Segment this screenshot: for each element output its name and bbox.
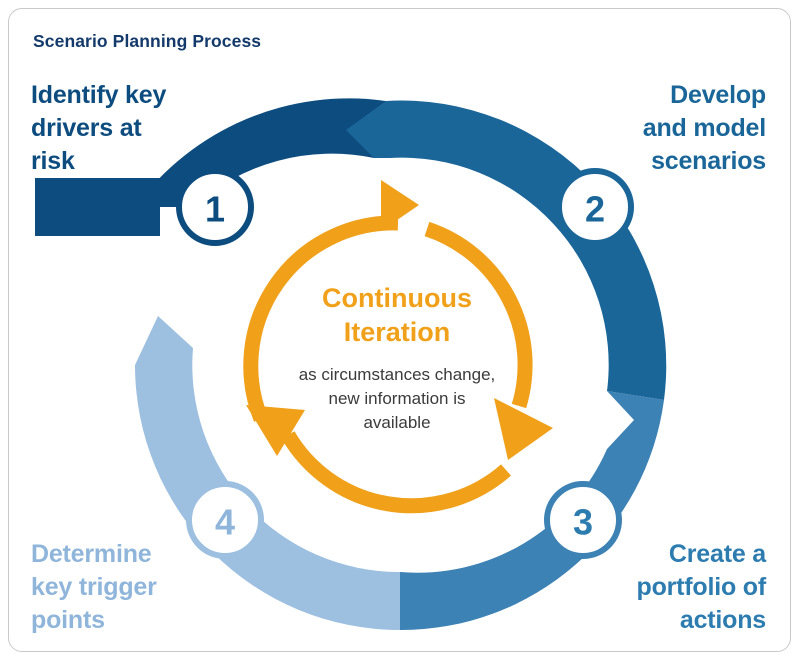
center-sub-line-1: as circumstances change, [299, 365, 496, 384]
step-3-number: 3 [573, 502, 593, 543]
diagram-canvas: 1 2 3 4 Scenario Planning Process Identi… [0, 0, 800, 661]
center-text-block: Continuous Iteration as circumstances ch… [299, 283, 496, 432]
step-4-number-badge[interactable]: 4 [189, 484, 261, 556]
step-2-number: 2 [585, 189, 605, 230]
step-4-label-line-1: Determine [31, 540, 152, 568]
step-4-label: Determine key trigger points [31, 540, 157, 634]
step-1-label: Identify key drivers at risk [31, 81, 166, 175]
step-4-number: 4 [215, 502, 235, 543]
page-title: Scenario Planning Process [33, 31, 261, 51]
step-4-label-line-2: key trigger [31, 573, 157, 601]
center-sub-line-2: new information is [328, 389, 465, 408]
step-3-label: Create a portfolio of actions [637, 540, 768, 634]
step-2-label-line-3: scenarios [651, 147, 766, 175]
center-heading-line-1: Continuous [322, 283, 472, 313]
step-1-number: 1 [205, 189, 225, 230]
step-4-arc [135, 316, 400, 630]
step-3-number-badge[interactable]: 3 [547, 484, 619, 556]
loop-arrow-head-top [381, 180, 419, 231]
step-1-label-line-1: Identify key [31, 81, 166, 109]
ring-segment-step-4[interactable] [135, 316, 400, 630]
step-3-label-line-2: portfolio of [637, 573, 767, 601]
step-2-label-line-2: and model [643, 114, 766, 142]
scenario-planning-cycle-diagram: 1 2 3 4 Scenario Planning Process Identi… [0, 0, 800, 661]
center-sub-line-3: available [363, 413, 430, 432]
loop-arc-bottom [288, 435, 506, 506]
step-2-label-line-1: Develop [670, 81, 766, 109]
step-2-label: Develop and model scenarios [643, 81, 766, 175]
step-1-label-line-2: drivers at [31, 114, 142, 142]
step-1-label-line-3: risk [31, 147, 75, 175]
step-2-number-badge[interactable]: 2 [559, 171, 631, 243]
step-3-label-line-1: Create a [669, 540, 767, 568]
center-heading-line-2: Iteration [344, 317, 451, 347]
step-4-label-line-3: points [31, 606, 105, 634]
step-2-arc [346, 101, 666, 400]
step-1-arc [135, 98, 386, 207]
step-1-number-badge[interactable]: 1 [179, 171, 251, 243]
ring-segment-step-2[interactable] [346, 101, 666, 400]
step-3-label-line-3: actions [680, 606, 766, 634]
